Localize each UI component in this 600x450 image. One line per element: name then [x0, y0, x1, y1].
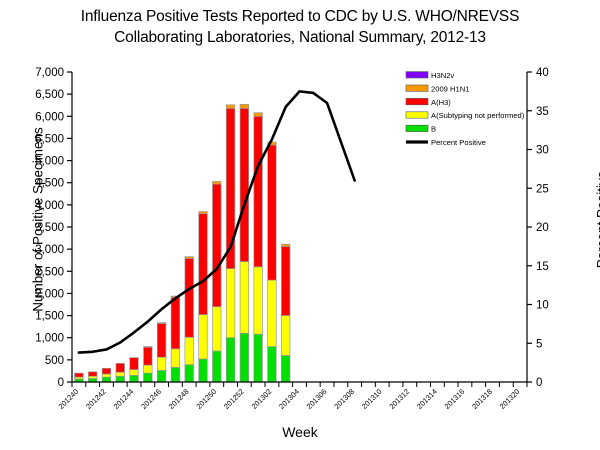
bar-segment	[157, 324, 166, 358]
legend-swatch	[406, 125, 428, 131]
bar-segment	[199, 214, 208, 315]
bar-segment	[144, 347, 153, 365]
x-tick-label: 201250	[194, 387, 218, 411]
y-tick-label-left: 3,500	[35, 222, 64, 234]
legend-swatch	[406, 85, 428, 91]
legend-label: Percent Positive	[431, 138, 486, 147]
y-tick-label-right: 35	[536, 106, 549, 118]
bar-segment	[199, 212, 208, 214]
bar-segment	[144, 347, 153, 348]
bar-segment	[171, 367, 180, 382]
bar-segment	[281, 244, 290, 246]
bar-segment	[254, 113, 263, 117]
bar-segment	[226, 338, 235, 382]
bar-segment	[144, 373, 153, 382]
bar-segment	[185, 365, 194, 382]
bar-segment	[240, 108, 249, 261]
bar-segment	[212, 307, 221, 351]
bar-segment	[75, 373, 84, 377]
y-tick-label-left: 3,000	[35, 244, 64, 256]
x-tick-label: 201302	[250, 387, 274, 411]
bar-segment	[185, 258, 194, 337]
x-tick-label: 201252	[222, 387, 246, 411]
x-axis-ticks: 2012402012422012442012462012482012502012…	[56, 382, 527, 411]
y-tick-label-left: 0	[58, 377, 64, 389]
x-tick-label: 201316	[443, 387, 467, 411]
x-tick-label: 201246	[139, 387, 163, 411]
x-tick-label: 201242	[84, 387, 108, 411]
chart-svg: 05001,0001,5002,0002,5003,0003,5004,0004…	[0, 0, 600, 450]
x-tick-label: 201240	[56, 387, 80, 411]
y-tick-label-right: 10	[536, 300, 549, 312]
x-tick-label: 201312	[387, 387, 411, 411]
bar-segment	[130, 370, 139, 376]
y-tick-label-right: 30	[536, 145, 549, 157]
bar-segment	[88, 372, 97, 376]
bar-segment	[268, 280, 277, 346]
y-tick-label-left: 5,500	[35, 133, 64, 145]
bar-segment	[116, 372, 125, 376]
bar-segment	[199, 359, 208, 382]
bar-segment	[268, 347, 277, 382]
bar-segment	[240, 104, 249, 108]
x-tick-label: 201306	[305, 387, 329, 411]
y-axis-ticks-left: 05001,0001,5002,0002,5003,0003,5004,0004…	[35, 67, 72, 389]
chart-legend: H3N2v2009 H1N1A(H3)A(Subtyping not perfo…	[406, 71, 525, 147]
y-tick-label-left: 6,500	[35, 89, 64, 101]
bar-segment	[157, 323, 166, 324]
bar-segment	[102, 374, 111, 377]
bar-segment	[212, 184, 221, 307]
bar-segment	[254, 116, 263, 267]
bar-segment	[157, 357, 166, 370]
y-tick-label-right: 20	[536, 222, 549, 234]
bar-segment	[144, 365, 153, 373]
legend-label: A(Subtyping not performed)	[431, 111, 525, 120]
y-tick-label-left: 500	[45, 355, 64, 367]
y-tick-label-right: 25	[536, 183, 549, 195]
bar-segment	[226, 105, 235, 109]
x-tick-label: 201318	[470, 387, 494, 411]
bar-segment	[226, 269, 235, 338]
bar-segment	[102, 377, 111, 382]
bar-segment	[171, 349, 180, 368]
y-tick-label-right: 15	[536, 261, 549, 273]
bar-segment	[171, 297, 180, 348]
y-tick-label-left: 1,000	[35, 333, 64, 345]
y-tick-label-right: 0	[536, 377, 542, 389]
bar-segment	[157, 370, 166, 382]
bar-segment	[281, 316, 290, 356]
legend-swatch	[406, 112, 428, 118]
y-tick-label-left: 4,500	[35, 178, 64, 190]
bar-segment	[130, 358, 139, 370]
legend-swatch	[406, 98, 428, 104]
bar-segment	[281, 246, 290, 315]
legend-swatch	[406, 72, 428, 78]
x-tick-label: 201310	[360, 387, 384, 411]
bar-segment	[254, 267, 263, 334]
y-tick-label-left: 2,000	[35, 288, 64, 300]
y-tick-label-left: 6,000	[35, 111, 64, 123]
bar-segment	[185, 337, 194, 364]
bar-segment	[199, 315, 208, 359]
legend-label: H3N2v	[431, 71, 454, 80]
y-tick-label-left: 4,000	[35, 200, 64, 212]
bar-segment	[254, 334, 263, 382]
x-tick-label: 201304	[277, 387, 301, 411]
y-tick-label-left: 1,500	[35, 311, 64, 323]
bar-segment	[240, 333, 249, 382]
y-axis-ticks-right: 0510152025303540	[527, 67, 549, 389]
y-tick-label-left: 5,000	[35, 156, 64, 168]
bar-segment	[130, 375, 139, 382]
y-tick-label-left: 7,000	[35, 67, 64, 79]
bar-series-group	[75, 104, 290, 382]
bar-segment	[212, 351, 221, 382]
bar-segment	[116, 363, 125, 372]
x-tick-label: 201308	[332, 387, 356, 411]
influenza-chart: Influenza Positive Tests Reported to CDC…	[0, 0, 600, 450]
x-tick-label: 201314	[415, 387, 439, 411]
bar-segment	[268, 145, 277, 280]
legend-label: B	[431, 125, 436, 134]
y-tick-label-left: 2,500	[35, 266, 64, 278]
x-tick-label: 201244	[112, 387, 136, 411]
bar-segment	[240, 262, 249, 334]
x-tick-label: 201320	[498, 387, 522, 411]
bar-segment	[281, 355, 290, 382]
bar-segment	[102, 368, 111, 374]
bar-segment	[185, 257, 194, 259]
legend-label: A(H3)	[431, 98, 451, 107]
legend-swatch	[406, 140, 428, 143]
bar-segment	[212, 181, 221, 184]
y-tick-label-right: 5	[536, 338, 542, 350]
x-tick-label: 201248	[167, 387, 191, 411]
legend-label: 2009 H1N1	[431, 84, 469, 93]
y-tick-label-right: 40	[536, 67, 549, 79]
bar-segment	[116, 376, 125, 382]
